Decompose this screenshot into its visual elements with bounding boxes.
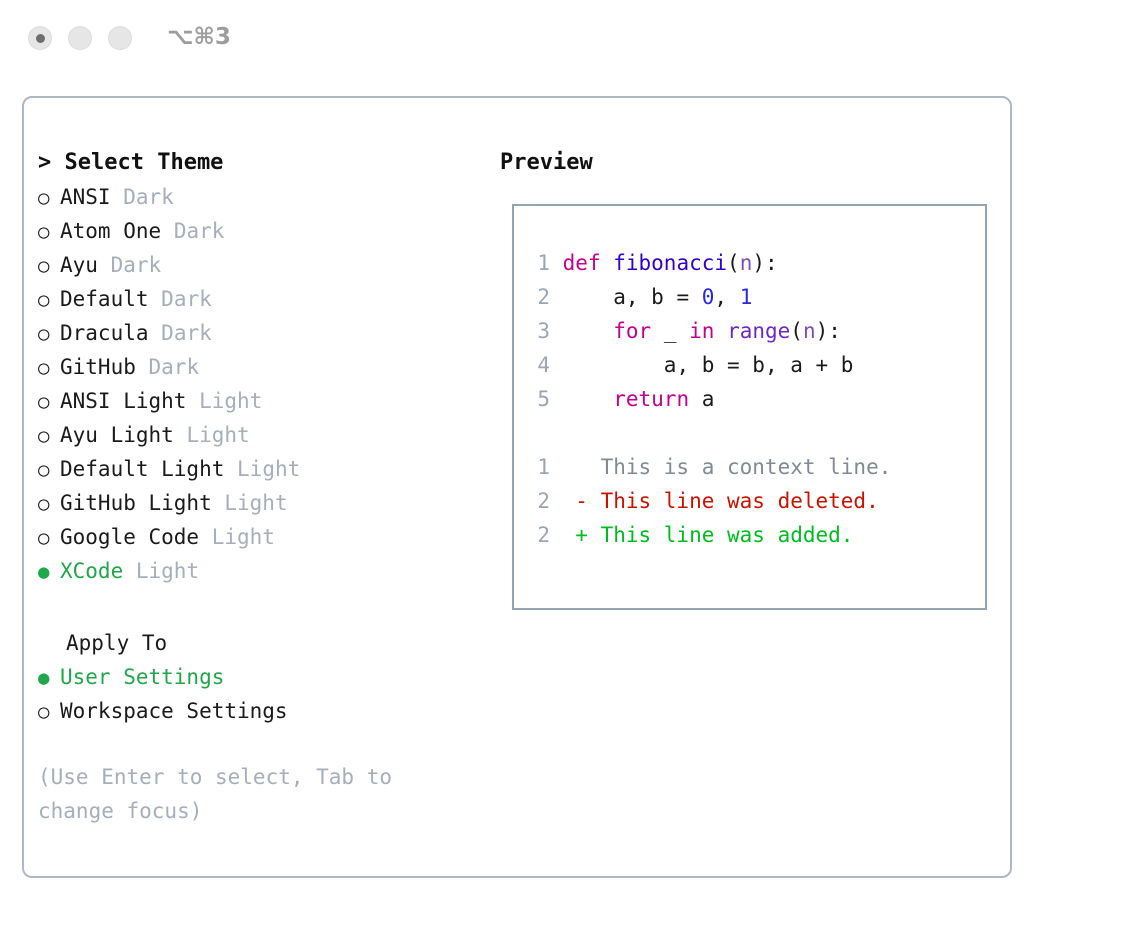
diff-line: 1 This is a context line. <box>524 450 977 484</box>
spacer <box>550 251 563 275</box>
spacer <box>186 389 199 413</box>
apply-to-label: Workspace Settings <box>60 699 288 723</box>
spacer <box>123 559 136 583</box>
radio-selected-icon[interactable]: ● <box>38 555 60 589</box>
diff-line-text: + This line was added. <box>550 523 853 547</box>
diff-line: 2 + This line was added. <box>524 518 977 552</box>
code-token-plain <box>714 319 727 343</box>
keyboard-shortcut-label: ⌥⌘3 <box>167 24 231 50</box>
apply-to-section: Apply To ●User Settings○Workspace Settin… <box>38 626 478 728</box>
radio-unselected-icon[interactable]: ○ <box>38 181 60 215</box>
apply-to-item[interactable]: ●User Settings <box>38 660 478 694</box>
apply-to-header: Apply To <box>38 626 478 660</box>
theme-name-label: Ayu Light <box>60 423 174 447</box>
theme-name-label: GitHub <box>60 355 136 379</box>
theme-list-item[interactable]: ○GitHub Light Light <box>38 486 478 520</box>
code-preview-area: 1 def fibonacci(n):2 a, b = 0, 13 for _ … <box>524 246 977 552</box>
preview-column: Preview 1 def fibonacci(n):2 a, b = 0, 1… <box>500 146 1000 180</box>
theme-name-label: ANSI Light <box>60 389 186 413</box>
spacer <box>174 423 187 447</box>
diff-line-number: 1 <box>524 450 550 484</box>
code-line: 4 a, b = b, a + b <box>524 348 977 382</box>
theme-name-label: XCode <box>60 559 123 583</box>
app-window: ⌥⌘3 > Select Theme ○ANSI Dark○Atom One D… <box>0 0 1140 934</box>
spacer <box>136 355 149 379</box>
spacer <box>550 387 563 411</box>
theme-list-item[interactable]: ○Atom One Dark <box>38 214 478 248</box>
spacer <box>161 219 174 243</box>
theme-name-label: GitHub Light <box>60 491 212 515</box>
code-token-builtin: range <box>727 319 790 343</box>
theme-list-item[interactable]: ○Default Light Light <box>38 452 478 486</box>
theme-kind-label: Dark <box>149 355 200 379</box>
theme-kind-label: Dark <box>174 219 225 243</box>
spacer <box>98 253 111 277</box>
radio-unselected-icon[interactable]: ○ <box>38 249 60 283</box>
code-token-plain <box>563 387 614 411</box>
code-token-num: 1 <box>740 285 753 309</box>
radio-unselected-icon[interactable]: ○ <box>38 695 60 729</box>
code-token-plain: ( <box>790 319 803 343</box>
theme-name-label: Atom One <box>60 219 161 243</box>
theme-kind-label: Light <box>199 389 262 413</box>
spacer <box>111 185 124 209</box>
spacer <box>550 353 563 377</box>
spacer <box>550 319 563 343</box>
window-maximize-dot[interactable] <box>108 26 132 50</box>
spacer <box>212 491 225 515</box>
code-line-number: 5 <box>524 382 550 416</box>
code-token-kw: in <box>689 319 714 343</box>
code-token-kw: def <box>563 251 614 275</box>
radio-selected-icon[interactable]: ● <box>38 661 60 695</box>
apply-to-label: User Settings <box>60 665 224 689</box>
theme-list-item[interactable]: ○Ayu Light Light <box>38 418 478 452</box>
theme-list-item[interactable]: ○Dracula Dark <box>38 316 478 350</box>
select-theme-header: > Select Theme <box>38 146 478 180</box>
theme-kind-label: Light <box>186 423 249 447</box>
keyboard-hint-text: (Use Enter to select, Tab to change focu… <box>38 760 448 828</box>
code-token-plain: a <box>689 387 714 411</box>
spacer <box>149 287 162 311</box>
theme-list-item[interactable]: ●XCode Light <box>38 554 478 588</box>
code-line: 5 return a <box>524 382 977 416</box>
theme-list-column: > Select Theme ○ANSI Dark○Atom One Dark○… <box>38 146 478 588</box>
code-token-kw: return <box>613 387 689 411</box>
code-token-kw: for <box>613 319 651 343</box>
theme-kind-label: Light <box>237 457 300 481</box>
code-token-plain: ( <box>727 251 740 275</box>
code-token-plain: , <box>714 285 739 309</box>
spacer <box>199 525 212 549</box>
theme-name-label: Default Light <box>60 457 224 481</box>
theme-name-label: Ayu <box>60 253 98 277</box>
preview-box: 1 def fibonacci(n):2 a, b = 0, 13 for _ … <box>512 204 987 610</box>
theme-list-item[interactable]: ○ANSI Light Light <box>38 384 478 418</box>
radio-unselected-icon[interactable]: ○ <box>38 487 60 521</box>
code-token-param: n <box>803 319 816 343</box>
theme-kind-label: Light <box>212 525 275 549</box>
code-token-param: n <box>740 251 753 275</box>
theme-kind-label: Dark <box>111 253 162 277</box>
diff-line-text: This is a context line. <box>550 455 891 479</box>
theme-kind-label: Dark <box>161 287 212 311</box>
radio-unselected-icon[interactable]: ○ <box>38 351 60 385</box>
code-line: 1 def fibonacci(n): <box>524 246 977 280</box>
code-token-plain: ): <box>816 319 841 343</box>
code-token-plain: ): <box>752 251 777 275</box>
theme-list-item[interactable]: ○ANSI Dark <box>38 180 478 214</box>
titlebar: ⌥⌘3 <box>0 0 1140 78</box>
radio-unselected-icon[interactable]: ○ <box>38 215 60 249</box>
spacer <box>550 285 563 309</box>
radio-unselected-icon[interactable]: ○ <box>38 317 60 351</box>
code-line-number: 4 <box>524 348 550 382</box>
code-line-number: 1 <box>524 246 550 280</box>
code-token-plain <box>563 319 614 343</box>
code-token-fn: fibonacci <box>613 251 727 275</box>
theme-kind-label: Light <box>136 559 199 583</box>
preview-title: Preview <box>500 146 1000 180</box>
code-line-number: 3 <box>524 314 550 348</box>
theme-list-item[interactable]: ○GitHub Dark <box>38 350 478 384</box>
diff-line-number: 2 <box>524 484 550 518</box>
theme-list: ○ANSI Dark○Atom One Dark○Ayu Dark○Defaul… <box>38 180 478 588</box>
theme-name-label: Dracula <box>60 321 149 345</box>
theme-list-item[interactable]: ○Ayu Dark <box>38 248 478 282</box>
code-line: 2 a, b = 0, 1 <box>524 280 977 314</box>
theme-kind-label: Light <box>224 491 287 515</box>
spacer <box>149 321 162 345</box>
apply-to-list: ●User Settings○Workspace Settings <box>38 660 478 728</box>
theme-selector-panel: > Select Theme ○ANSI Dark○Atom One Dark○… <box>22 96 1012 878</box>
radio-unselected-icon[interactable]: ○ <box>38 453 60 487</box>
code-blank-line <box>524 416 977 450</box>
code-token-plain: a, b = <box>563 285 702 309</box>
radio-unselected-icon[interactable]: ○ <box>38 521 60 555</box>
radio-unselected-icon[interactable]: ○ <box>38 283 60 317</box>
theme-name-label: Default <box>60 287 149 311</box>
spacer <box>224 457 237 481</box>
apply-to-item[interactable]: ○Workspace Settings <box>38 694 478 728</box>
theme-list-item[interactable]: ○Default Dark <box>38 282 478 316</box>
radio-unselected-icon[interactable]: ○ <box>38 385 60 419</box>
radio-unselected-icon[interactable]: ○ <box>38 419 60 453</box>
theme-kind-label: Dark <box>161 321 212 345</box>
code-line-number: 2 <box>524 280 550 314</box>
code-token-plain: a, b = b, a + b <box>563 353 854 377</box>
diff-line-number: 2 <box>524 518 550 552</box>
diff-line-text: - This line was deleted. <box>550 489 879 513</box>
diff-line: 2 - This line was deleted. <box>524 484 977 518</box>
code-line: 3 for _ in range(n): <box>524 314 977 348</box>
window-minimize-dot[interactable] <box>68 26 92 50</box>
window-close-dot-inner <box>36 34 45 43</box>
code-token-plain: _ <box>651 319 689 343</box>
theme-name-label: Google Code <box>60 525 199 549</box>
code-token-num: 0 <box>702 285 715 309</box>
theme-list-item[interactable]: ○Google Code Light <box>38 520 478 554</box>
theme-name-label: ANSI <box>60 185 111 209</box>
theme-kind-label: Dark <box>123 185 174 209</box>
